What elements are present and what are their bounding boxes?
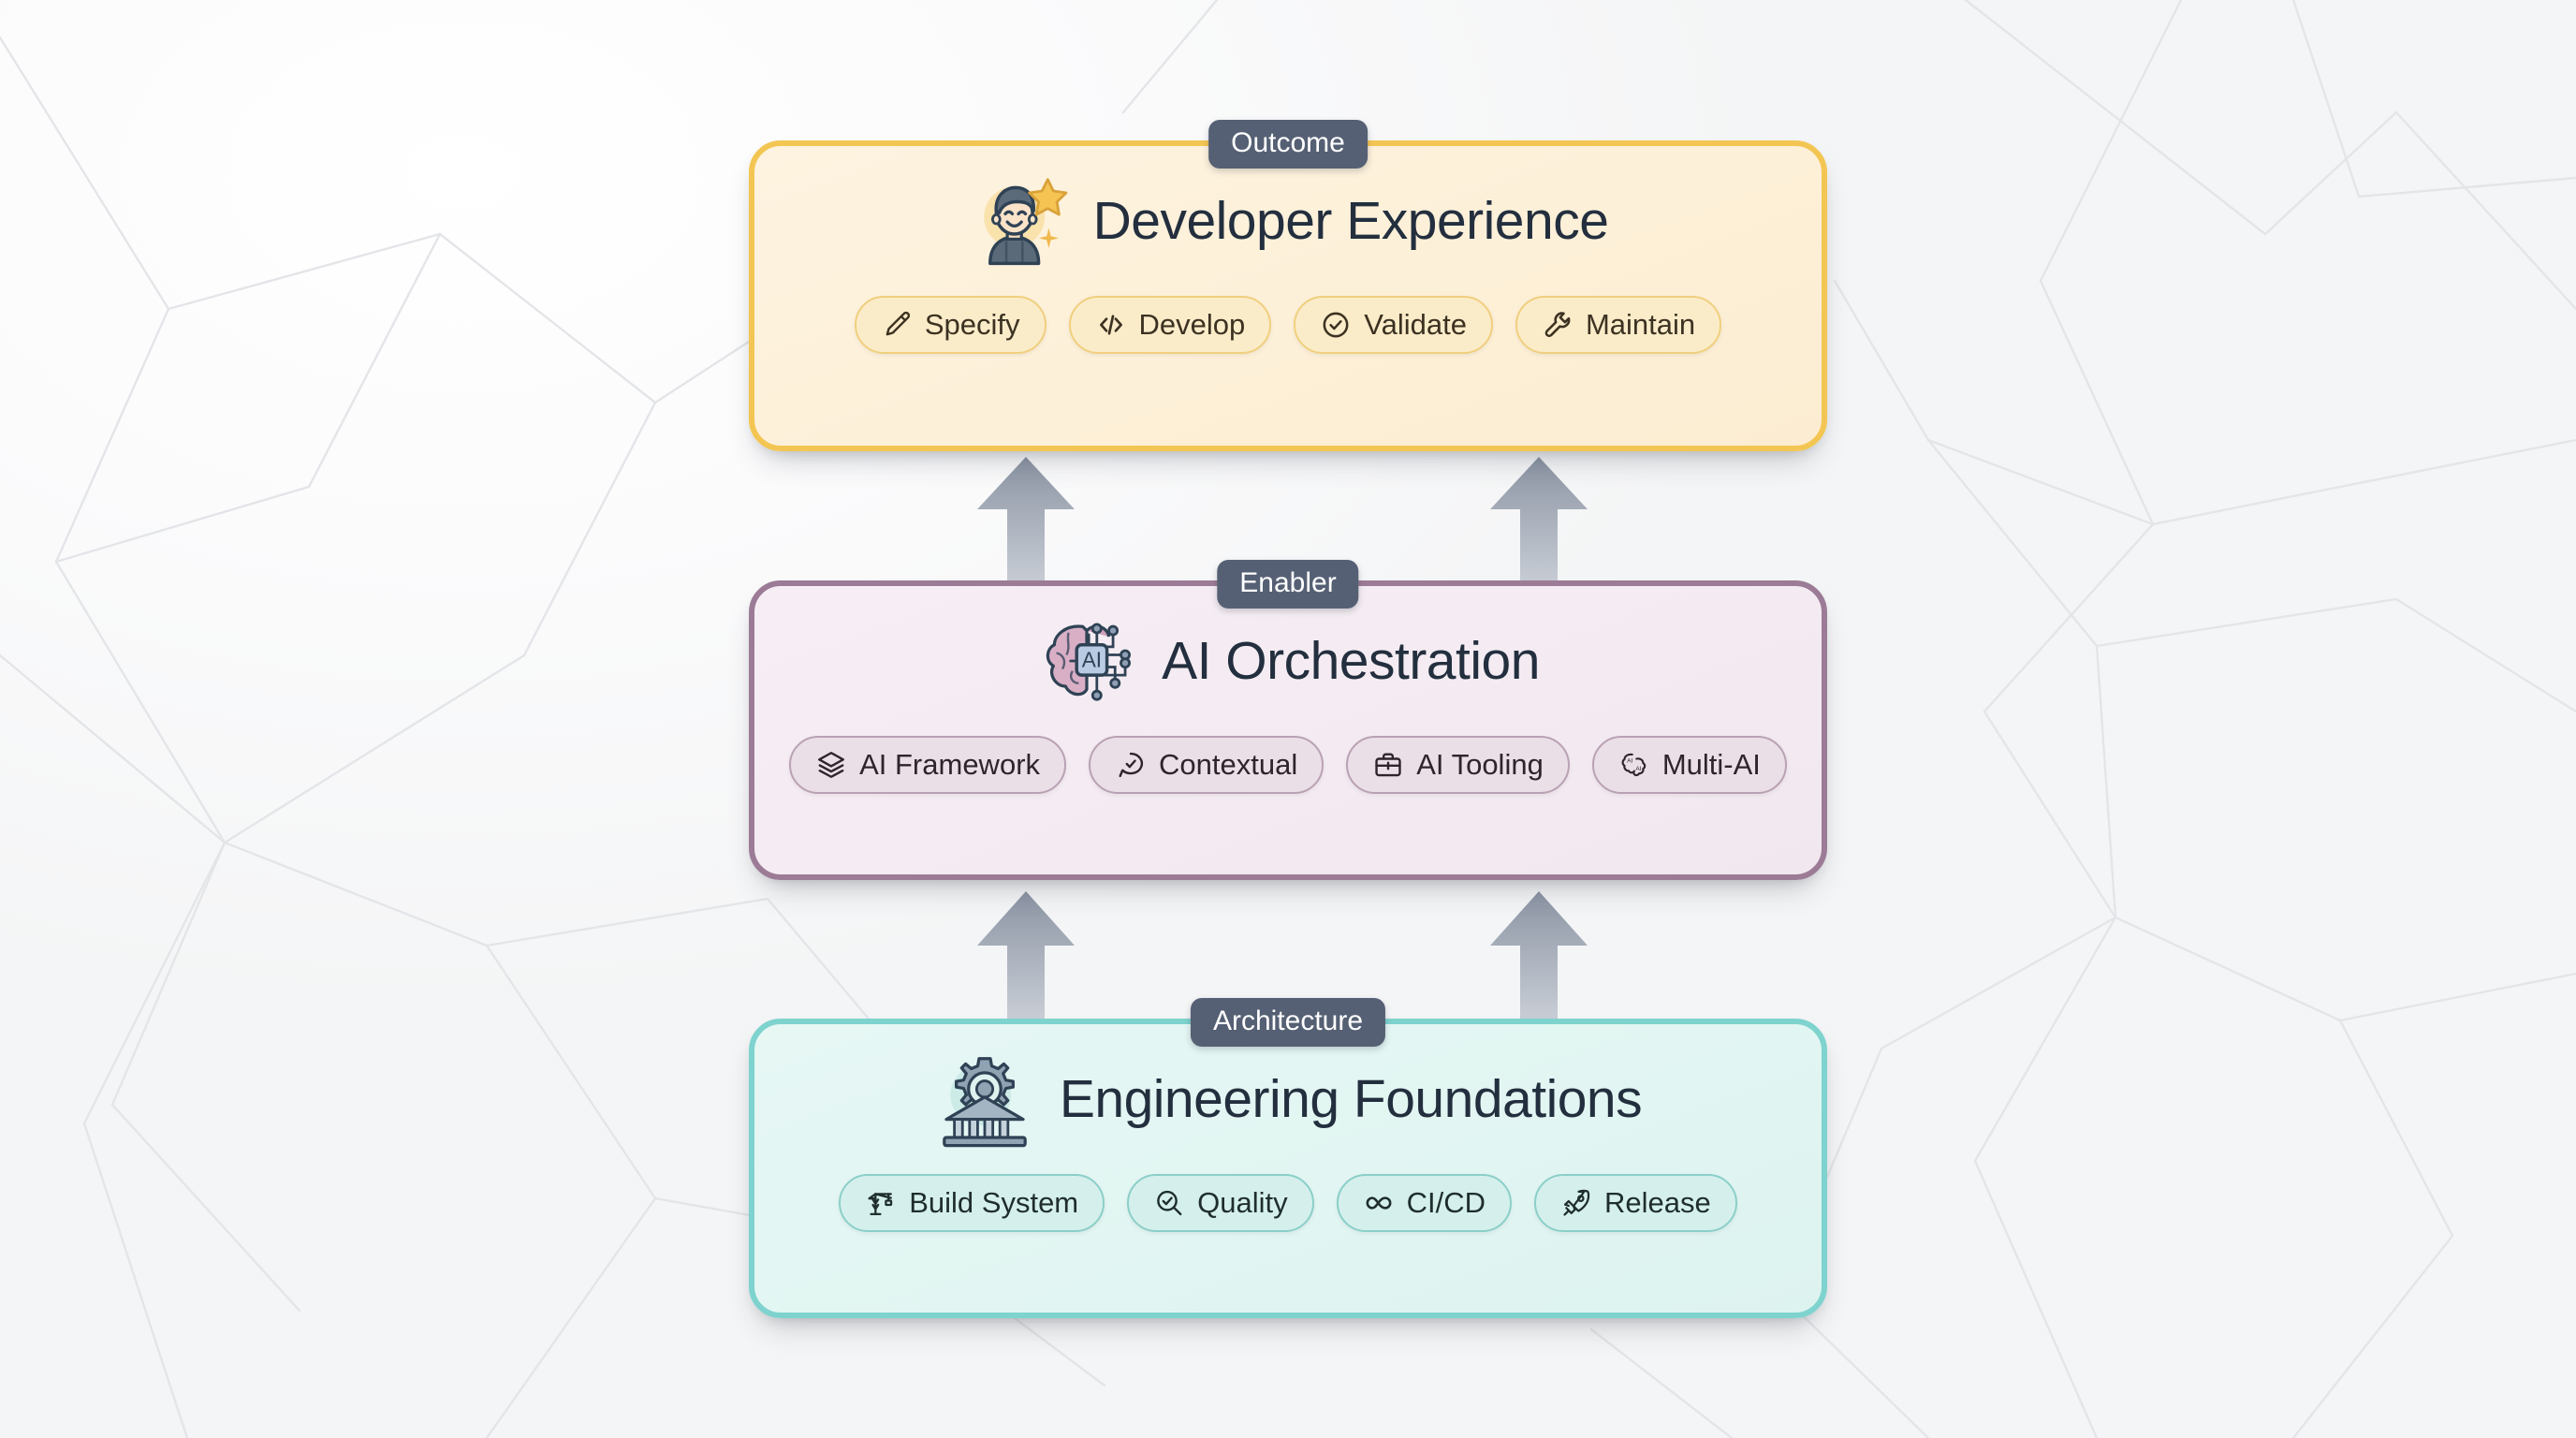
chip-release[interactable]: Release [1534,1174,1737,1232]
infinity-icon [1363,1187,1395,1219]
chip-label: Validate [1364,308,1467,342]
layered-architecture-diagram: Outcome [0,0,2576,1438]
chip-contextual[interactable]: Contextual [1089,736,1324,794]
brain-ai-chip-icon: AI [1036,610,1137,712]
chip-label: Contextual [1159,748,1297,782]
chip-label: CI/CD [1407,1186,1486,1220]
card-developer-experience[interactable]: Outcome [749,140,1827,451]
svg-text:AI: AI [1627,758,1632,765]
chip-ai-framework[interactable]: AI Framework [789,736,1066,794]
card-title-architecture: Engineering Foundations [1060,1073,1642,1126]
badge-architecture: Architecture [1191,998,1385,1047]
chip-ai-tooling[interactable]: AI Tooling [1346,736,1570,794]
chip-row-outcome: Specify Develop [754,271,1822,354]
wrench-icon [1542,309,1573,341]
crane-icon [865,1187,897,1219]
svg-text:AI: AI [1082,647,1102,671]
chip-quality[interactable]: Quality [1127,1174,1313,1232]
badge-outcome: Outcome [1208,120,1368,169]
chip-label: Specify [925,308,1020,342]
card-ai-orchestration[interactable]: Enabler [749,580,1827,880]
layers-icon [815,749,847,781]
multi-brain-ai-icon: AI AI [1618,749,1650,781]
chip-maintain[interactable]: Maintain [1515,296,1721,354]
card-title-enabler: AI Orchestration [1162,635,1540,688]
badge-enabler: Enabler [1217,560,1358,609]
gear-temple-icon [934,1049,1035,1150]
chip-label: AI Tooling [1416,748,1544,782]
svg-text:AI: AI [1635,766,1641,772]
chip-label: Maintain [1586,308,1695,342]
chip-label: Quality [1197,1186,1287,1220]
layer-outcome: Outcome [749,140,1827,451]
chip-develop[interactable]: Develop [1069,296,1272,354]
code-brackets-icon [1095,309,1127,341]
chip-label: Multi-AI [1662,748,1761,782]
chip-label: Develop [1139,308,1246,342]
chip-label: AI Framework [859,748,1040,782]
chip-build-system[interactable]: Build System [839,1174,1105,1232]
chip-row-enabler: AI Framework Contextual [754,712,1822,794]
layer-architecture: Architecture [749,1019,1827,1318]
magnifier-check-icon [1153,1187,1185,1219]
chip-row-architecture: Build System Quality [754,1150,1822,1232]
chip-label: Release [1604,1186,1711,1220]
card-engineering-foundations[interactable]: Architecture [749,1019,1827,1318]
toolbox-icon [1372,749,1404,781]
diagram-canvas: Outcome [0,0,2576,1438]
check-circle-icon [1320,309,1352,341]
chat-check-icon [1115,749,1147,781]
layer-enabler: Enabler [749,580,1827,880]
chip-multi-ai[interactable]: AI AI Multi-AI [1592,736,1787,794]
chip-specify[interactable]: Specify [855,296,1046,354]
developer-avatar-star-icon [968,170,1069,271]
chip-validate[interactable]: Validate [1294,296,1493,354]
card-title-outcome: Developer Experience [1093,195,1609,248]
rocket-icon [1560,1187,1592,1219]
chip-label: Build System [909,1186,1078,1220]
chip-cicd[interactable]: CI/CD [1337,1174,1512,1232]
pencil-icon [881,309,913,341]
